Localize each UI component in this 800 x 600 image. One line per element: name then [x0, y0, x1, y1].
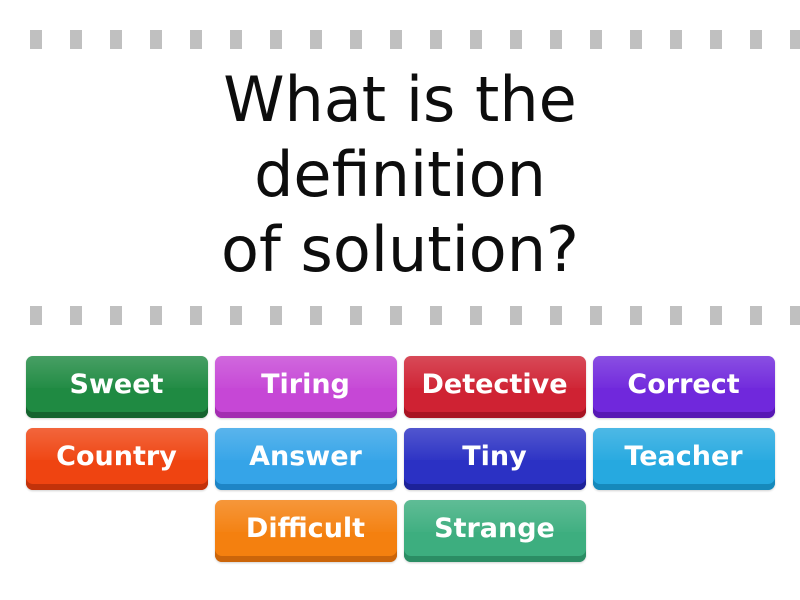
divider-dash — [510, 30, 522, 49]
divider-dash — [630, 306, 642, 325]
answer-option-label: Difficult — [246, 515, 365, 542]
answer-row: CountryAnswerTinyTeacher — [0, 428, 800, 494]
divider-dash — [750, 30, 762, 49]
divider-dash — [70, 306, 82, 325]
divider-dash — [350, 30, 362, 49]
divider-dash — [230, 306, 242, 325]
answer-option-label: Tiny — [462, 443, 527, 470]
divider-dash — [790, 30, 800, 49]
divider-dash — [670, 30, 682, 49]
divider-dash — [270, 30, 282, 49]
divider-dash — [270, 306, 282, 325]
divider-dash — [350, 306, 362, 325]
divider-dash — [190, 306, 202, 325]
divider-dash — [430, 30, 442, 49]
answer-option-country[interactable]: Country — [26, 428, 208, 490]
answer-option-correct[interactable]: Correct — [593, 356, 775, 418]
answer-option-tiny[interactable]: Tiny — [404, 428, 586, 490]
divider-dash — [630, 30, 642, 49]
quiz-stage: What is the definition of solution? Swee… — [0, 0, 800, 600]
answer-option-strange[interactable]: Strange — [404, 500, 586, 562]
answer-option-difficult[interactable]: Difficult — [215, 500, 397, 562]
divider-dash — [710, 306, 722, 325]
divider-dash — [110, 306, 122, 325]
divider-dash — [430, 306, 442, 325]
question-text: What is the definition of solution? — [0, 62, 800, 287]
answer-option-label: Teacher — [624, 443, 742, 470]
answer-option-sweet[interactable]: Sweet — [26, 356, 208, 418]
divider-dash — [710, 30, 722, 49]
answer-row: DifficultStrange — [0, 500, 800, 566]
divider-dash — [110, 30, 122, 49]
answer-option-detective[interactable]: Detective — [404, 356, 586, 418]
divider-dash — [470, 306, 482, 325]
answer-option-label: Tiring — [261, 371, 350, 398]
divider-dash — [590, 30, 602, 49]
divider-dash — [30, 30, 42, 49]
divider-dash — [750, 306, 762, 325]
answer-option-tiring[interactable]: Tiring — [215, 356, 397, 418]
divider-dash — [70, 30, 82, 49]
divider-dash — [390, 306, 402, 325]
answer-option-label: Sweet — [70, 371, 164, 398]
divider-dash — [670, 306, 682, 325]
divider-dash — [150, 306, 162, 325]
divider-dash — [310, 306, 322, 325]
divider-dash — [470, 30, 482, 49]
answer-option-label: Country — [56, 443, 177, 470]
divider-dash — [590, 306, 602, 325]
answer-option-label: Strange — [434, 515, 555, 542]
answer-option-teacher[interactable]: Teacher — [593, 428, 775, 490]
divider-dash — [390, 30, 402, 49]
dashed-divider-top — [0, 30, 800, 49]
dashed-divider-middle — [0, 306, 800, 325]
divider-dash — [550, 306, 562, 325]
divider-dash — [30, 306, 42, 325]
divider-dash — [510, 306, 522, 325]
divider-dash — [550, 30, 562, 49]
divider-dash — [230, 30, 242, 49]
divider-dash — [150, 30, 162, 49]
answer-option-answer[interactable]: Answer — [215, 428, 397, 490]
answer-option-label: Answer — [249, 443, 362, 470]
answer-options-grid: SweetTiringDetectiveCorrect CountryAnswe… — [0, 352, 800, 582]
divider-dash — [190, 30, 202, 49]
answer-row: SweetTiringDetectiveCorrect — [0, 356, 800, 422]
divider-dash — [310, 30, 322, 49]
answer-option-label: Detective — [421, 371, 567, 398]
divider-dash — [790, 306, 800, 325]
answer-option-label: Correct — [627, 371, 739, 398]
